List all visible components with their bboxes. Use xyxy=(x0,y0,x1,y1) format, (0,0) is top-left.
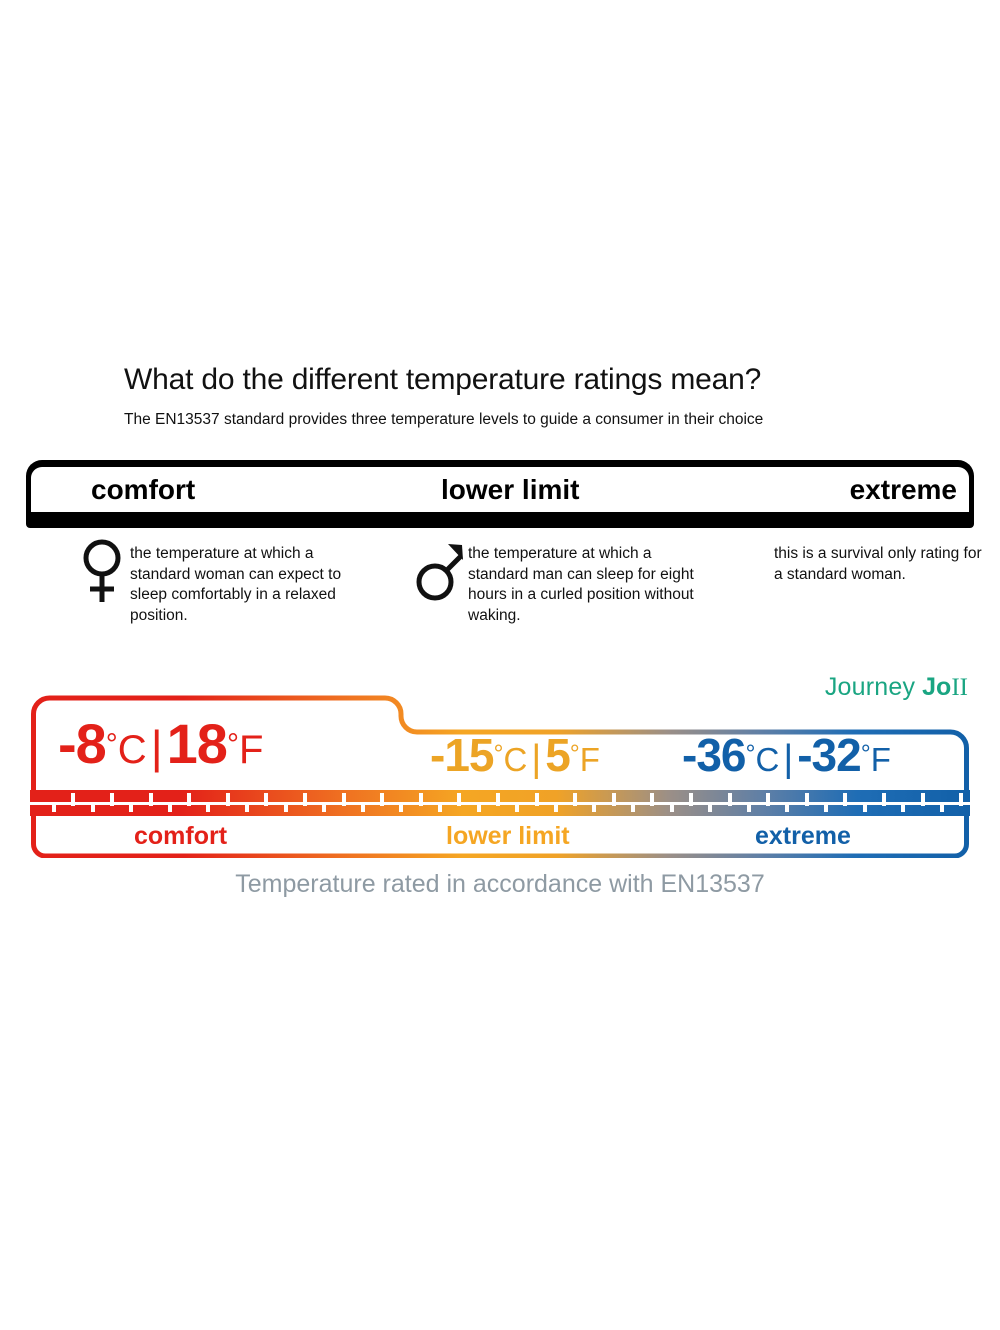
scale-tick-minor xyxy=(940,802,944,812)
scale-tick-major xyxy=(535,793,539,806)
rating-value-lower-limit: -15°C|5°F xyxy=(430,732,600,778)
scale-tick-minor xyxy=(361,802,365,812)
scale-tick-minor xyxy=(515,802,519,812)
extreme-fahrenheit-value: -32 xyxy=(797,729,860,781)
extreme-fahrenheit-degree-sign: ° xyxy=(861,740,871,768)
extreme-fahrenheit-unit: F xyxy=(871,741,891,778)
female-symbol-icon xyxy=(78,536,126,608)
scale-tick-major xyxy=(303,793,307,806)
comfort-fahrenheit-degree-sign: ° xyxy=(227,728,239,761)
extreme-celsius-degree-sign: ° xyxy=(745,740,755,768)
scale-tick-major xyxy=(71,793,75,806)
scale-tick-minor xyxy=(477,802,481,812)
category-header-bar: comfort lower limit extreme xyxy=(26,460,974,528)
page-title: What do the different temperature rating… xyxy=(124,362,904,398)
temperature-gradient-scale xyxy=(30,790,970,816)
comfort-fahrenheit-value: 18 xyxy=(167,712,227,775)
scale-tick-major xyxy=(766,793,770,806)
scale-tick-minor xyxy=(168,802,172,812)
band-label-extreme: extreme xyxy=(755,816,851,856)
scale-tick-major xyxy=(959,793,963,806)
band-label-lower-limit: lower limit xyxy=(446,816,570,856)
comfort-celsius-value: -8 xyxy=(58,712,106,775)
scale-tick-minor xyxy=(52,802,56,812)
scale-band-labels: comfort lower limit extreme xyxy=(30,816,970,856)
footer-note: Temperature rated in accordance with EN1… xyxy=(0,870,1000,899)
comfort-celsius-unit: C xyxy=(118,728,147,772)
scale-tick-minor xyxy=(554,802,558,812)
comfort-celsius-degree-sign: ° xyxy=(106,728,118,761)
rating-value-comfort: -8°C|18°F xyxy=(58,716,263,772)
extreme-celsius-unit: C xyxy=(755,741,779,778)
comfort-separator: | xyxy=(147,721,167,773)
temperature-values: -8°C|18°F -15°C|5°F -36°C|-32°F xyxy=(30,694,970,802)
lower-limit-celsius-unit: C xyxy=(503,741,527,778)
description-text-lower-limit: the temperature at which a standard man … xyxy=(468,536,716,626)
scale-tick-major xyxy=(650,793,654,806)
lower-limit-celsius-value: -15 xyxy=(430,729,493,781)
scale-tick-major xyxy=(342,793,346,806)
scale-tick-major xyxy=(457,793,461,806)
description-columns: the temperature at which a standard woma… xyxy=(26,536,974,636)
scale-tick-major xyxy=(882,793,886,806)
scale-tick-major xyxy=(496,793,500,806)
scale-tick-minor xyxy=(284,802,288,812)
scale-tick-major xyxy=(226,793,230,806)
scale-tick-minor xyxy=(399,802,403,812)
scale-tick-minor xyxy=(631,802,635,812)
scale-tick-minor xyxy=(785,802,789,812)
scale-tick-minor xyxy=(863,802,867,812)
scale-tick-major xyxy=(921,793,925,806)
scale-tick-minor xyxy=(592,802,596,812)
scale-tick-major xyxy=(728,793,732,806)
scale-tick-major xyxy=(187,793,191,806)
rating-value-extreme: -36°C|-32°F xyxy=(682,732,891,778)
temperature-scale-panel: -8°C|18°F -15°C|5°F -36°C|-32°F comfort … xyxy=(30,694,970,858)
scale-tick-major xyxy=(573,793,577,806)
lower-limit-fahrenheit-unit: F xyxy=(580,741,600,778)
lower-limit-separator: | xyxy=(527,738,545,780)
scale-tick-minor xyxy=(670,802,674,812)
scale-tick-major xyxy=(612,793,616,806)
extreme-separator: | xyxy=(779,738,797,780)
lower-limit-fahrenheit-value: 5 xyxy=(545,729,570,781)
scale-tick-major xyxy=(805,793,809,806)
band-label-comfort: comfort xyxy=(134,816,227,856)
scale-tick-minor xyxy=(708,802,712,812)
header-label-comfort: comfort xyxy=(91,467,195,512)
category-header-labels: comfort lower limit extreme xyxy=(31,467,969,512)
description-text-comfort: the temperature at which a standard woma… xyxy=(130,536,378,626)
scale-tick-minor xyxy=(322,802,326,812)
lower-limit-celsius-degree-sign: ° xyxy=(493,740,503,768)
comfort-fahrenheit-unit: F xyxy=(239,728,263,772)
description-text-extreme: this is a survival only rating for a sta… xyxy=(774,536,984,585)
description-column-lower-limit: the temperature at which a standard man … xyxy=(416,536,716,626)
scale-tick-major xyxy=(689,793,693,806)
scale-tick-minor xyxy=(747,802,751,812)
scale-tick-major xyxy=(419,793,423,806)
scale-tick-minor xyxy=(245,802,249,812)
scale-tick-major xyxy=(110,793,114,806)
scale-tick-major xyxy=(149,793,153,806)
header-label-extreme: extreme xyxy=(850,467,957,512)
page-subtitle: The EN13537 standard provides three temp… xyxy=(124,398,904,430)
scale-tick-major xyxy=(843,793,847,806)
temperature-rating-infographic: What do the different temperature rating… xyxy=(0,0,1000,1330)
description-column-comfort: the temperature at which a standard woma… xyxy=(78,536,378,626)
scale-tick-major xyxy=(264,793,268,806)
description-column-extreme: this is a survival only rating for a sta… xyxy=(774,536,984,585)
scale-tick-minor xyxy=(129,802,133,812)
header-label-lower-limit: lower limit xyxy=(441,467,579,512)
scale-tick-minor xyxy=(91,802,95,812)
lower-limit-fahrenheit-degree-sign: ° xyxy=(570,740,580,768)
scale-tick-major xyxy=(380,793,384,806)
scale-tick-minor xyxy=(206,802,210,812)
extreme-celsius-value: -36 xyxy=(682,729,745,781)
male-symbol-icon xyxy=(416,536,464,608)
scale-tick-minor xyxy=(901,802,905,812)
scale-tick-minor xyxy=(824,802,828,812)
heading-block: What do the different temperature rating… xyxy=(124,362,904,430)
scale-tick-minor xyxy=(438,802,442,812)
